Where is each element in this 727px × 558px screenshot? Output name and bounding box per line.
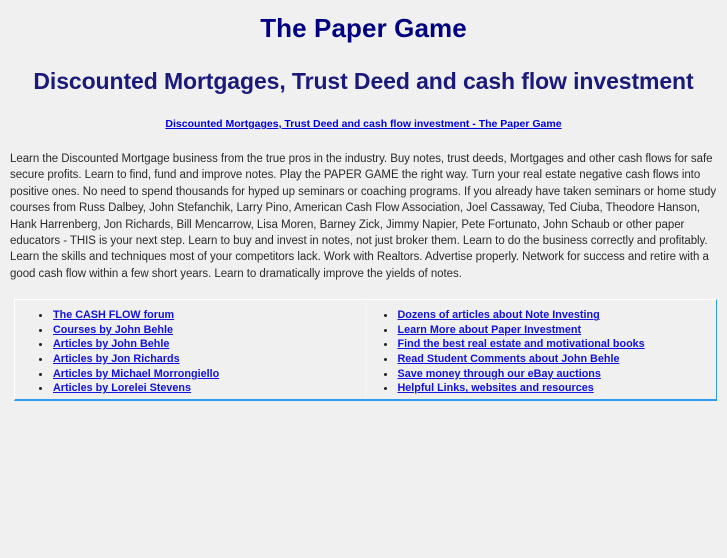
list-item[interactable]: The CASH FLOW forum — [39, 308, 365, 323]
links-box: The CASH FLOW forum Courses by John Behl… — [14, 299, 717, 401]
intro-paragraph: Learn the Discounted Mortgage business f… — [10, 151, 717, 282]
link-dozens-of-articles-note-investing[interactable]: Dozens of articles about Note Investing — [398, 309, 600, 321]
list-item[interactable]: Learn More about Paper Investment — [384, 323, 717, 338]
link-cash-flow-forum[interactable]: The CASH FLOW forum — [53, 309, 174, 321]
link-articles-by-jon-richards[interactable]: Articles by Jon Richards — [53, 353, 180, 365]
link-best-real-estate-books[interactable]: Find the best real estate and motivation… — [398, 338, 645, 350]
page-root: The Paper Game Discounted Mortgages, Tru… — [0, 13, 727, 401]
list-item[interactable]: Dozens of articles about Note Investing — [384, 308, 717, 323]
list-item[interactable]: Articles by Lorelei Stevens — [39, 381, 365, 396]
links-column-left: The CASH FLOW forum Courses by John Behl… — [15, 300, 366, 399]
list-item[interactable]: Save money through our eBay auctions — [384, 367, 717, 382]
link-articles-by-lorelei-stevens[interactable]: Articles by Lorelei Stevens — [53, 382, 191, 394]
page-subtitle: Discounted Mortgages, Trust Deed and cas… — [0, 68, 727, 95]
link-ebay-auctions[interactable]: Save money through our eBay auctions — [398, 368, 601, 380]
link-articles-by-michael-morrongiello[interactable]: Articles by Michael Morrongiello — [53, 368, 219, 380]
list-item[interactable]: Articles by Jon Richards — [39, 352, 365, 367]
list-item[interactable]: Read Student Comments about John Behle — [384, 352, 717, 367]
keyword-link[interactable]: Discounted Mortgages, Trust Deed and cas… — [165, 118, 561, 130]
link-helpful-links-resources[interactable]: Helpful Links, websites and resources — [398, 382, 594, 394]
page-title: The Paper Game — [0, 13, 727, 43]
left-link-list: The CASH FLOW forum Courses by John Behl… — [15, 308, 365, 396]
link-student-comments-john-behle[interactable]: Read Student Comments about John Behle — [398, 353, 620, 365]
links-column-right: Dozens of articles about Note Investing … — [366, 300, 717, 399]
list-item[interactable]: Find the best real estate and motivation… — [384, 337, 717, 352]
list-item[interactable]: Articles by John Behle — [39, 337, 365, 352]
link-articles-by-john-behle[interactable]: Articles by John Behle — [53, 338, 169, 350]
list-item[interactable]: Articles by Michael Morrongiello — [39, 367, 365, 382]
list-item[interactable]: Courses by John Behle — [39, 323, 365, 338]
link-learn-more-paper-investment[interactable]: Learn More about Paper Investment — [398, 324, 582, 336]
link-courses-by-john-behle[interactable]: Courses by John Behle — [53, 324, 173, 336]
right-link-list: Dozens of articles about Note Investing … — [366, 308, 717, 396]
list-item[interactable]: Helpful Links, websites and resources — [384, 381, 717, 396]
keyword-link-row: Discounted Mortgages, Trust Deed and cas… — [0, 117, 727, 131]
